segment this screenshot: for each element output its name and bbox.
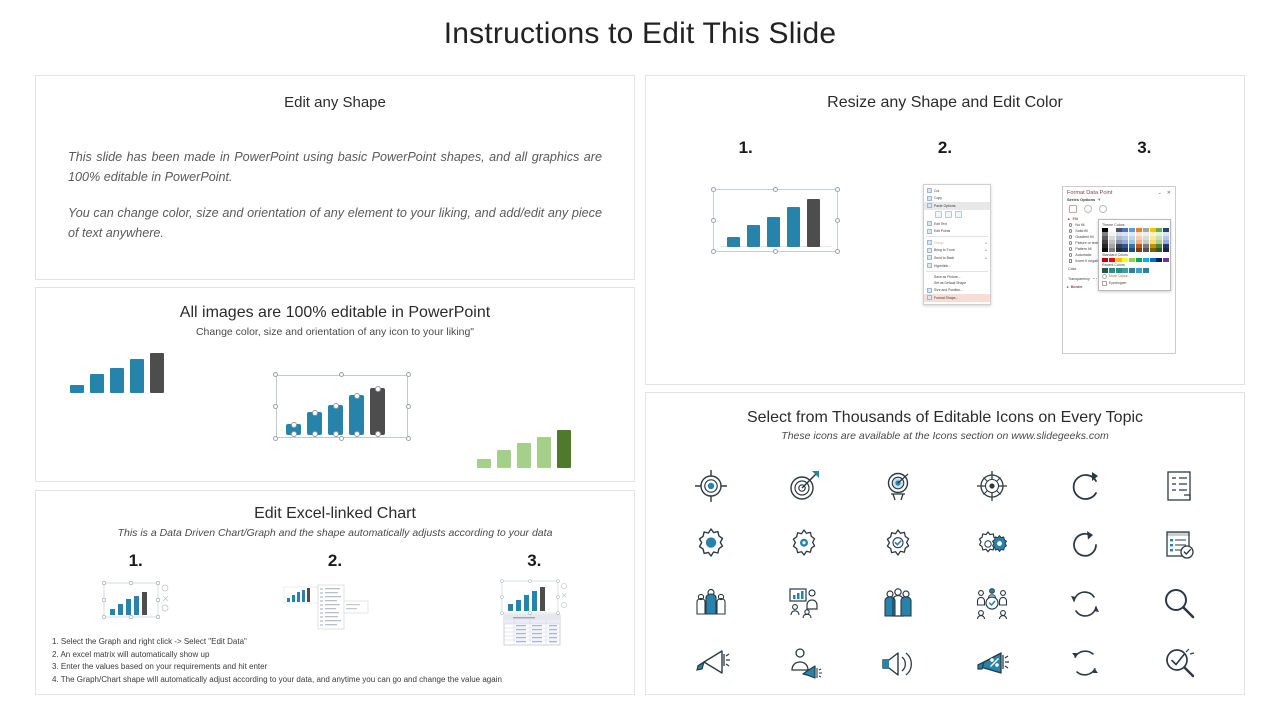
- color-swatch[interactable]: [1150, 248, 1156, 252]
- context-menu-item-label: Group: [934, 241, 943, 245]
- fill-option-label: Gradient fill: [1075, 235, 1093, 239]
- context-menu-item-set-as-default-shape[interactable]: Set as Default Shape: [924, 280, 990, 287]
- context-menu-item-label: Copy: [934, 196, 942, 200]
- resize-handle-sw[interactable]: [273, 436, 278, 441]
- menu-separator: [926, 271, 988, 272]
- context-menu-item-label: Paste Options:: [934, 204, 956, 208]
- slide-root: Instructions to Edit This Slide Edit any…: [0, 0, 1280, 720]
- format-pane-title: Format Data Point: [1067, 190, 1112, 196]
- chevron-right-icon: ▸: [1067, 285, 1069, 289]
- icon-grid: [646, 456, 1244, 692]
- context-menu-item-label: Set as Default Shape: [934, 281, 966, 285]
- resize-handle-ne[interactable]: [835, 187, 840, 192]
- border-label: Border: [1071, 285, 1083, 289]
- resize-handle-se[interactable]: [835, 249, 840, 254]
- context-menu-item-size-and-position[interactable]: Size and Position...: [924, 287, 990, 295]
- resize-step-3: 3.: [1045, 138, 1244, 158]
- resize-step-2-number: 2.: [845, 138, 1044, 158]
- bar-3: [767, 217, 780, 247]
- color-swatch[interactable]: [1116, 248, 1122, 252]
- chevron-down-icon: ▲: [1067, 217, 1071, 221]
- bar-5: [370, 388, 385, 436]
- excel-step-2-number: 2.: [260, 551, 410, 571]
- color-swatch[interactable]: [1122, 268, 1128, 272]
- paste-merge-icon[interactable]: [945, 211, 952, 218]
- color-swatch[interactable]: [1143, 248, 1149, 252]
- color-swatch[interactable]: [1136, 248, 1142, 252]
- resize-handle-n[interactable]: [773, 187, 778, 192]
- circular-sync-icon[interactable]: [1065, 643, 1105, 683]
- page-title: Instructions to Edit This Slide: [0, 0, 1280, 51]
- gear-solid-icon[interactable]: [691, 525, 731, 565]
- double-gear-icon[interactable]: [972, 525, 1012, 565]
- chevron-right-icon: ▸: [985, 256, 987, 260]
- bar-1: [727, 237, 740, 247]
- panel-edit-excel-chart: Edit Excel-linked Chart This is a Data D…: [35, 490, 635, 695]
- context-menu-item-cut[interactable]: Cut: [924, 187, 990, 195]
- crosshair-scope-icon[interactable]: [972, 466, 1012, 506]
- context-menu-item-label: Bring to Front: [934, 248, 955, 252]
- radio-button[interactable]: [1069, 235, 1072, 238]
- context-menu-item-edit-points[interactable]: Edit Points: [924, 227, 990, 235]
- context-menu-item-bring-to-front[interactable]: Bring to Front▸: [924, 247, 990, 255]
- transparency-label: Transparency: [1068, 277, 1090, 281]
- context-menu-item-send-to-back[interactable]: Send to Back▸: [924, 254, 990, 262]
- more-colors-label: More Colors...: [1109, 274, 1130, 278]
- color-swatch[interactable]: [1129, 258, 1135, 262]
- color-picker-popup[interactable]: Theme Colors Standard Colors Recent Colo…: [1098, 219, 1171, 291]
- color-swatch[interactable]: [1129, 248, 1135, 252]
- bar-4: [537, 437, 551, 468]
- color-swatch[interactable]: [1102, 258, 1108, 262]
- chevron-right-icon: ▸: [985, 248, 987, 252]
- hyperlink-icon: [927, 263, 932, 268]
- context-menu-item-label: Cut: [934, 189, 939, 193]
- context-menu-item-label: Send to Back: [934, 256, 954, 260]
- color-swatch[interactable]: [1129, 268, 1135, 272]
- document-approved-icon[interactable]: [1159, 525, 1199, 565]
- chevron-right-icon: ▸: [985, 241, 987, 245]
- format-pane-window-controls[interactable]: ⌄ ✕: [1158, 190, 1171, 196]
- resize-handle-nw[interactable]: [711, 187, 716, 192]
- panel-subtitle-icons: These icons are available at the Icons s…: [646, 430, 1244, 442]
- context-menu-item-label: Format Shape...: [934, 296, 958, 300]
- target-stand-icon[interactable]: [878, 466, 918, 506]
- panel-title-resize: Resize any Shape and Edit Color: [646, 94, 1244, 112]
- magnifier-check-icon[interactable]: [1159, 643, 1199, 683]
- instruction-item: 1. Select the Graph and right click -> S…: [52, 636, 502, 649]
- edit-points-icon: [927, 229, 932, 234]
- color-swatch[interactable]: [1116, 268, 1122, 272]
- color-swatch[interactable]: [1102, 268, 1108, 272]
- panel-edit-any-shape: Edit any Shape This slide has been made …: [35, 75, 635, 280]
- person-megaphone-icon[interactable]: [784, 643, 824, 683]
- radio-button[interactable]: [1069, 223, 1072, 226]
- fill-option-label: Automatic: [1075, 253, 1091, 257]
- color-swatch[interactable]: [1156, 258, 1162, 262]
- format-pane-tabs[interactable]: [1063, 202, 1175, 215]
- context-menu-item-label: Edit Points: [934, 229, 950, 233]
- megaphone-icon[interactable]: [691, 643, 731, 683]
- group-people-icon[interactable]: [878, 584, 918, 624]
- color-swatch[interactable]: [1109, 268, 1115, 272]
- color-swatch[interactable]: [1109, 258, 1115, 262]
- paste-options-icons[interactable]: [924, 210, 990, 220]
- resize-handle-sw[interactable]: [711, 249, 716, 254]
- bar-1: [70, 385, 84, 393]
- sync-arrows-icon[interactable]: [1065, 584, 1105, 624]
- bar-chart-plain-blue: [70, 353, 164, 393]
- context-menu-item-copy[interactable]: Copy: [924, 195, 990, 203]
- context-menu-item-label: Edit Text: [934, 222, 947, 226]
- resize-handle-e[interactable]: [406, 404, 411, 409]
- resize-step-3-number: 3.: [1045, 138, 1244, 158]
- format-pane-subtitle: Series Options: [1067, 197, 1095, 202]
- format-shape-icon: [927, 295, 932, 300]
- target-crosshair-icon[interactable]: [691, 466, 731, 506]
- dartboard-arrow-icon[interactable]: [784, 466, 824, 506]
- color-swatch[interactable]: [1156, 248, 1162, 252]
- refresh-arrow-icon[interactable]: [1065, 466, 1105, 506]
- bar-2: [497, 450, 511, 468]
- bar-5: [557, 430, 571, 468]
- fill-option-label: Pattern fill: [1075, 247, 1091, 251]
- bar-2: [90, 374, 104, 393]
- theme-colors-row-6[interactable]: [1102, 248, 1167, 252]
- chart-context-menu-thumb[interactable]: [260, 577, 410, 640]
- checklist-document-icon[interactable]: [1159, 466, 1199, 506]
- send-back-icon: [927, 255, 932, 260]
- eyedropper-item[interactable]: Eyedropper: [1102, 280, 1167, 287]
- excel-instruction-list: 1. Select the Graph and right click -> S…: [52, 636, 502, 686]
- radio-button[interactable]: [1069, 247, 1072, 250]
- resize-steps-row: 1. 2. 3.: [646, 138, 1244, 158]
- selected-bars-container: [286, 387, 385, 435]
- resize-selected-chart[interactable]: [713, 189, 838, 252]
- paste-keep-formatting-icon[interactable]: [935, 211, 942, 218]
- resize-handle-w[interactable]: [711, 218, 716, 223]
- fill-option-label: Solid fill: [1075, 229, 1087, 233]
- panel-title-icons: Select from Thousands of Editable Icons …: [646, 409, 1244, 427]
- resize-chart-bars: [727, 199, 820, 247]
- bar-1: [286, 424, 301, 435]
- bar-chart-selected-blue[interactable]: [276, 375, 408, 438]
- context-menu-item-paste-options[interactable]: Paste Options:: [924, 202, 990, 210]
- resize-step-1-number: 1.: [646, 138, 845, 158]
- panel-subtitle-images: Change color, size and orientation of an…: [36, 326, 634, 338]
- loudspeaker-icon[interactable]: [878, 643, 918, 683]
- bar-3: [517, 443, 531, 468]
- resize-handle-w[interactable]: [273, 404, 278, 409]
- bar-5: [807, 199, 820, 247]
- panel-editable-icons: Select from Thousands of Editable Icons …: [645, 392, 1245, 695]
- bar-5: [150, 353, 164, 393]
- edit-shape-paragraph-2: You can change color, size and orientati…: [68, 203, 602, 243]
- circular-arrow-icon[interactable]: [1065, 525, 1105, 565]
- series-tab-icon[interactable]: [1099, 205, 1107, 213]
- eyedropper-label: Eyedropper: [1109, 281, 1127, 285]
- standard-colors-grid[interactable]: [1102, 258, 1167, 262]
- bar-4: [130, 359, 144, 393]
- size-position-icon: [927, 288, 932, 293]
- bar-3: [328, 405, 343, 435]
- color-swatch[interactable]: [1163, 258, 1169, 262]
- color-swatch[interactable]: [1143, 258, 1149, 262]
- bar-4: [349, 395, 364, 435]
- gear-check-icon[interactable]: [878, 525, 918, 565]
- color-swatch[interactable]: [1122, 258, 1128, 262]
- color-label: Color: [1068, 267, 1077, 271]
- megaphone-percent-icon[interactable]: [972, 643, 1012, 683]
- resize-handle-s[interactable]: [339, 436, 344, 441]
- bar-1: [477, 459, 491, 468]
- color-swatch[interactable]: [1136, 268, 1142, 272]
- instruction-item: 3. Enter the values based on your requir…: [52, 661, 502, 674]
- radio-button[interactable]: [1069, 253, 1072, 256]
- theme-colors-grid[interactable]: [1102, 228, 1167, 252]
- bar-4: [787, 207, 800, 247]
- fill-option-label: No fill: [1075, 223, 1084, 227]
- menu-separator: [926, 236, 988, 237]
- context-menu-item-label: Size and Position...: [934, 288, 963, 292]
- panel-title-edit-shape: Edit any Shape: [36, 94, 634, 111]
- resize-step-1: 1.: [646, 138, 845, 158]
- gear-center-icon[interactable]: [784, 525, 824, 565]
- resize-step-2: 2.: [845, 138, 1044, 158]
- magnifier-icon[interactable]: [1159, 584, 1199, 624]
- bar-3: [110, 368, 124, 394]
- color-swatch[interactable]: [1136, 258, 1142, 262]
- resize-handle-nw[interactable]: [273, 372, 278, 377]
- invert-checkbox[interactable]: [1069, 259, 1072, 262]
- instruction-item: 2. An excel matrix will automatically sh…: [52, 649, 502, 662]
- panel-title-excel: Edit Excel-linked Chart: [36, 505, 634, 523]
- panel-title-images: All images are 100% editable in PowerPoi…: [36, 304, 634, 322]
- bar-chart-green: [477, 430, 571, 468]
- color-swatch[interactable]: [1122, 248, 1128, 252]
- format-data-point-pane[interactable]: Format Data Point ⌄ ✕ Series Options ▼ ▲…: [1062, 186, 1176, 354]
- edit-text-icon: [927, 221, 932, 226]
- context-menu-item-label: Save as Picture...: [934, 275, 961, 279]
- scissors-icon: [927, 188, 932, 193]
- eyedropper-icon: [1102, 281, 1107, 286]
- resize-handle-se[interactable]: [406, 436, 411, 441]
- resize-handle-s[interactable]: [773, 249, 778, 254]
- color-swatch[interactable]: [1102, 248, 1108, 252]
- context-menu-item-label: Hyperlink...: [934, 264, 951, 268]
- context-menu-item-hyperlink[interactable]: Hyperlink...: [924, 262, 990, 270]
- radio-button[interactable]: [1069, 229, 1072, 232]
- context-menu-item-format-shape[interactable]: Format Shape...: [924, 294, 990, 302]
- fill-section-label: Fill: [1073, 217, 1078, 221]
- team-leader-icon[interactable]: [691, 584, 731, 624]
- color-swatch[interactable]: [1163, 248, 1169, 252]
- color-swatch[interactable]: [1116, 258, 1122, 262]
- bring-front-icon: [927, 248, 932, 253]
- excel-step-3-number: 3.: [459, 551, 609, 571]
- radio-button[interactable]: [1069, 241, 1072, 244]
- copy-icon: [927, 196, 932, 201]
- palette-icon: [1102, 274, 1107, 279]
- resize-handle-e[interactable]: [835, 218, 840, 223]
- paste-picture-icon[interactable]: [955, 211, 962, 218]
- instruction-item: 4. The Graph/Chart shape will automatica…: [52, 674, 502, 687]
- effects-tab-icon[interactable]: [1084, 205, 1092, 213]
- color-swatch[interactable]: [1150, 258, 1156, 262]
- presentation-people-icon[interactable]: [784, 584, 824, 624]
- team-meeting-icon[interactable]: [972, 584, 1012, 624]
- color-swatch[interactable]: [1109, 248, 1115, 252]
- paste-icon: [927, 203, 932, 208]
- group-icon: [927, 240, 932, 245]
- panel-subtitle-excel: This is a Data Driven Chart/Graph and th…: [36, 527, 634, 539]
- excel-step-1-number: 1.: [61, 551, 211, 571]
- bar-2: [307, 412, 322, 435]
- context-menu-item-save-as-picture[interactable]: Save as Picture...: [924, 273, 990, 280]
- more-colors-item[interactable]: More Colors...: [1102, 273, 1167, 280]
- close-icon[interactable]: ✕: [1167, 190, 1171, 196]
- resize-handle-ne[interactable]: [406, 372, 411, 377]
- chart-selected-thumb[interactable]: [61, 577, 211, 636]
- color-swatch[interactable]: [1143, 268, 1149, 272]
- format-pane-header: Format Data Point ⌄ ✕: [1063, 187, 1175, 197]
- resize-handle-n[interactable]: [339, 372, 344, 377]
- context-menu-item-edit-text[interactable]: Edit Text: [924, 220, 990, 228]
- bar-2: [747, 225, 760, 247]
- fill-line-tab-icon[interactable]: [1069, 205, 1077, 213]
- context-menu-item-group[interactable]: Group▸: [924, 239, 990, 247]
- shape-context-menu[interactable]: CutCopyPaste Options:Edit TextEdit Point…: [923, 184, 991, 305]
- chevron-down-icon[interactable]: ⌄: [1158, 190, 1162, 196]
- edit-shape-paragraph-1: This slide has been made in PowerPoint u…: [68, 147, 602, 187]
- chevron-down-icon[interactable]: ▼: [1097, 197, 1101, 202]
